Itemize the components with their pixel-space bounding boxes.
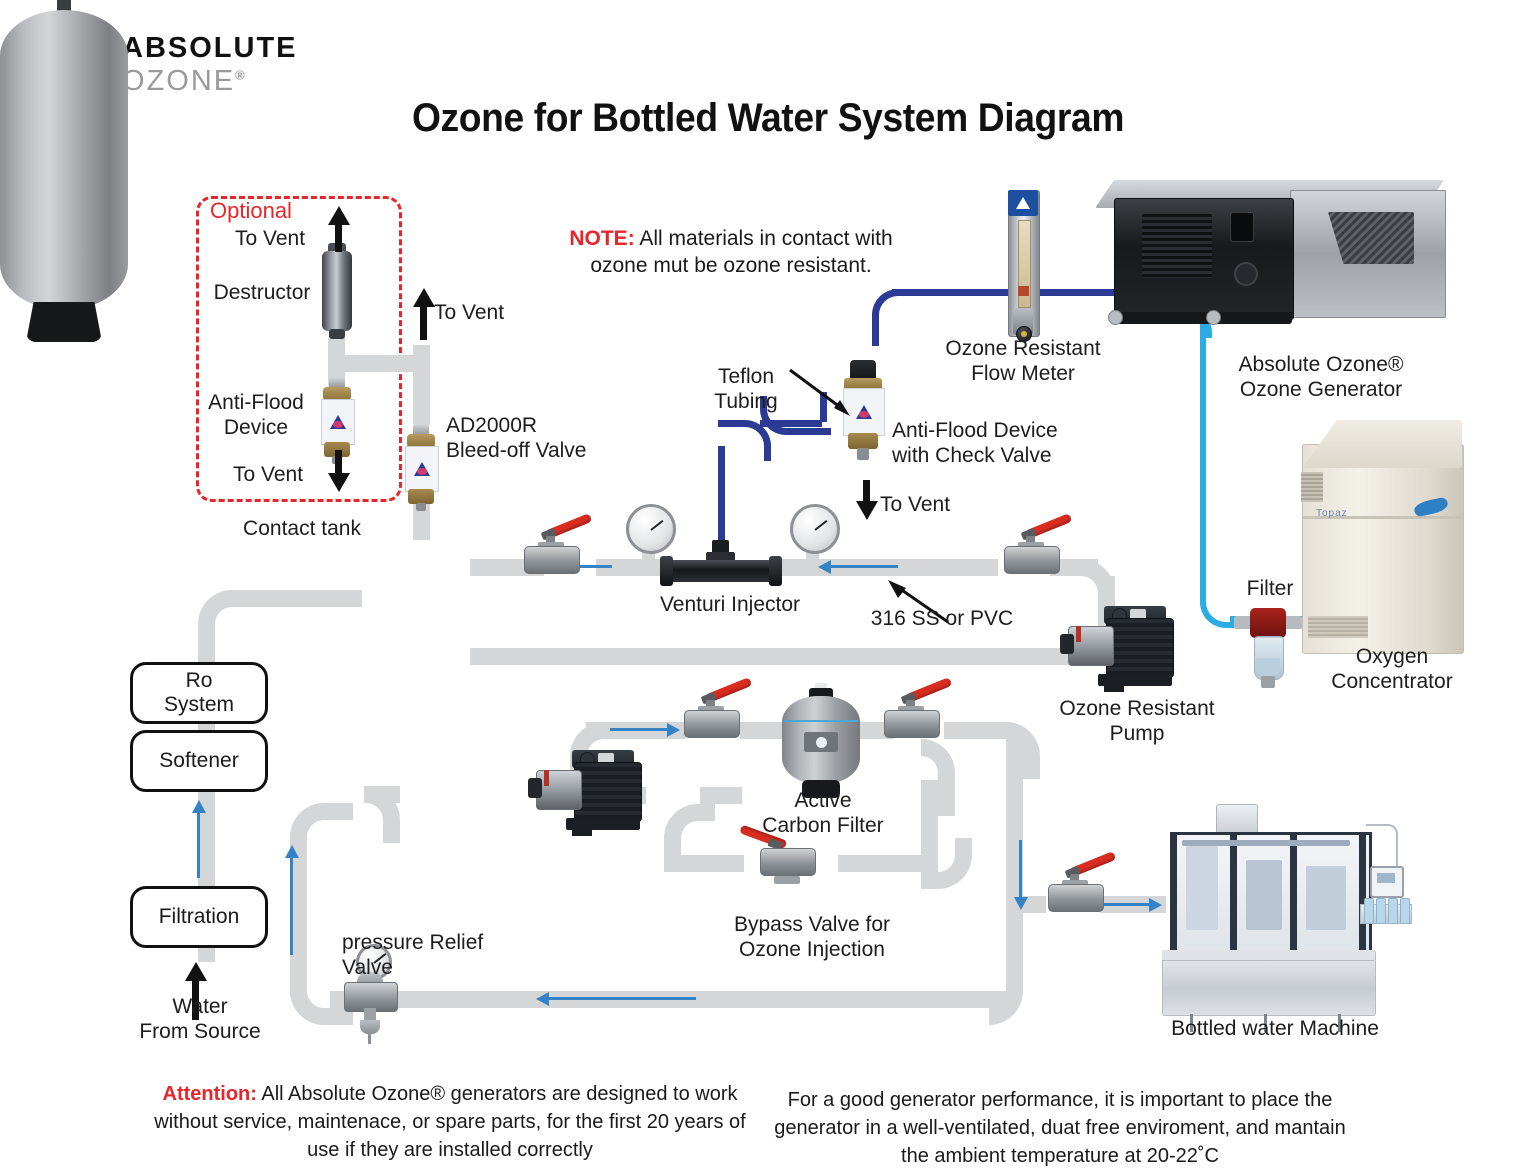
bleedoff-riser (413, 345, 430, 425)
label-oxygen-concentrator: Oxygen Concentrator (1308, 644, 1476, 694)
label-venturi-injector: Venturi Injector (640, 592, 820, 617)
contact-tank-base (26, 302, 102, 342)
label-pipe-material: 316 SS or PVC (858, 606, 1026, 631)
page-title: Ozone for Bottled Water System Diagram (54, 96, 1482, 141)
ad2000r-logo-icon (414, 462, 430, 476)
valve-body (1004, 546, 1060, 574)
flow-meter-logo-icon (1016, 197, 1030, 209)
valve-body (524, 546, 580, 574)
pipe-corner-left-upper (290, 803, 353, 866)
note-callout: NOTE: All materials in contact with ozon… (556, 225, 906, 279)
label-flow-meter: Ozone Resistant Flow Meter (930, 336, 1116, 386)
to-vent-arrow-bleedoff (417, 288, 430, 340)
bwm-control-panel[interactable] (1370, 866, 1404, 898)
flow-arrow-to-acf (610, 723, 680, 736)
note-prefix: NOTE: (569, 227, 634, 250)
pressure-gauge-left (626, 504, 676, 554)
pipe-bypass-left (664, 855, 744, 872)
afd-label (321, 399, 355, 445)
bwm-frame-column (1290, 832, 1297, 950)
bwm-bottle (1364, 898, 1374, 924)
label-bottled-water-machine: Bottled water Machine (1152, 1016, 1398, 1041)
afd-check-tip (857, 448, 869, 460)
footer-attention-prefix: Attention: (163, 1083, 257, 1105)
to-vent-arrow-antiflood (332, 450, 345, 492)
pump-foot-bracket (572, 828, 592, 836)
label-ozone-generator: Absolute Ozone® Ozone Generator (1210, 352, 1432, 402)
pipe-pump-suction (470, 648, 1090, 665)
generator-control-dial[interactable] (1234, 262, 1258, 286)
to-vent-arrow-destructor (332, 206, 345, 252)
flow-arrow-right-leg (1014, 840, 1027, 910)
ad2000r-tip (416, 503, 426, 511)
bwm-bottle (1400, 898, 1410, 924)
oxygen-line-vertical (1200, 320, 1206, 596)
ozone-line-checkvalve-down (872, 326, 879, 346)
pump-head-stripe (1076, 626, 1081, 642)
contact-tank-body (0, 10, 128, 310)
bwm-bottle (1388, 898, 1398, 924)
footer-attention: Attention: All Absolute Ozone® generator… (150, 1080, 750, 1164)
ro-system-label: Ro System (164, 669, 234, 717)
pipe-bypass-tl-down (664, 836, 681, 856)
brand-name-bold: ABSOLUTE (122, 32, 298, 64)
pump-suction-nose (528, 778, 542, 798)
pump-suction-nose (1060, 634, 1074, 654)
pump-head (536, 770, 582, 810)
registered-mark: ® (235, 67, 247, 82)
acf-logo-icon (804, 732, 838, 752)
label-contact-tank: Contact tank (224, 516, 380, 541)
label-to-vent-destructor: To Vent (208, 226, 332, 251)
valve-body (684, 710, 740, 738)
diagram-canvas: ABSOLUTE OZONE® Ozone for Bottled Water … (0, 0, 1536, 1164)
valve-body (884, 710, 940, 738)
label-destructor: Destructor (200, 280, 324, 305)
secondary-pump (536, 748, 654, 840)
contact-tank (0, 0, 128, 330)
sidebar-item-filtration[interactable]: Filtration (130, 886, 268, 948)
oxygen-concentrator-grille (1308, 616, 1368, 638)
note-text: All materials in contact with ozone mut … (590, 227, 892, 277)
generator-intake-grille (1142, 214, 1212, 278)
valve-nut (774, 876, 800, 884)
bottled-water-machine (1160, 804, 1410, 1036)
label-anti-flood-check: Anti-Flood Device with Check Valve (892, 418, 1092, 468)
valve-bottled-water-machine-inlet[interactable] (1040, 862, 1110, 914)
ad2000r-label (405, 446, 439, 492)
bwm-rinser (1186, 846, 1218, 930)
filter-water-level (1256, 658, 1280, 676)
pump-motor (1106, 618, 1174, 678)
ozone-line-meter-to-generator (1036, 289, 1118, 296)
ad2000r-foot (408, 489, 434, 504)
ozone-resistant-pump (1068, 604, 1186, 696)
ozone-generator (1114, 180, 1444, 332)
oxygen-concentrator-top (1302, 420, 1462, 468)
venturi-end-left (660, 556, 673, 586)
label-ozone-pump: Ozone Resistant Pump (1042, 696, 1232, 746)
valve-acf-inlet[interactable] (676, 688, 746, 740)
label-bypass-valve: Bypass Valve for Ozone Injection (714, 912, 910, 962)
filter-outlet-fitting (1284, 616, 1302, 629)
valve-acf-outlet[interactable] (876, 688, 946, 740)
bwm-frame-column (1230, 832, 1237, 950)
sidebar-item-softener[interactable]: Softener (130, 730, 268, 792)
flow-arrow-left-riser (285, 845, 298, 955)
bwm-bottle (1376, 898, 1386, 924)
flow-arrow-softener-riser (192, 800, 205, 878)
flow-arrow-bottom-return (536, 992, 696, 1005)
label-to-vent-check: To Vent (880, 492, 990, 517)
label-to-vent-bleedoff: To Vent (434, 300, 544, 325)
brand-wordmark: ABSOLUTE OZONE® (122, 32, 416, 98)
filter-drain (1261, 676, 1275, 688)
bwm-frame-column (1170, 832, 1177, 950)
sidebar-item-ro-system[interactable]: Ro System (130, 662, 268, 724)
oxygen-concentrator: Topaz (1302, 420, 1462, 652)
label-water-from-source: Water From Source (120, 994, 280, 1044)
venturi-end-right (769, 556, 782, 586)
flow-meter-header (1008, 190, 1038, 216)
venturi-injector (662, 556, 780, 586)
optional-label: Optional (210, 198, 292, 224)
ozone-line-to-meter (892, 289, 1008, 296)
label-to-vent-antiflood: To Vent (206, 462, 330, 487)
valve-body (1048, 884, 1104, 912)
pipe-ro-to-tank (232, 590, 362, 607)
generator-ozone-outlet-port (1108, 310, 1123, 325)
ad2000r-bleed-off-valve (404, 425, 438, 511)
label-anti-flood-device: Anti-Flood Device (196, 390, 316, 440)
pump-motor (574, 762, 642, 822)
pipe-pump-out-low (700, 787, 742, 804)
bwm-filler (1246, 860, 1282, 930)
bwm-upper-rail (1182, 840, 1350, 846)
ozone-resistant-flow-meter (1004, 190, 1042, 335)
oxygen-concentrator-side-vent (1301, 472, 1323, 502)
bwm-frame-column (1359, 832, 1366, 950)
generator-base (1114, 312, 1292, 324)
prv-drip (368, 1034, 371, 1044)
destructor-body (322, 251, 352, 331)
filtration-label: Filtration (159, 905, 240, 929)
label-ad2000r: AD2000R Bleed-off Valve (446, 413, 626, 463)
valve-tank-inlet[interactable] (516, 524, 586, 576)
bypass-valve-ozone-injection[interactable] (752, 834, 822, 886)
destructor-outlet (329, 329, 345, 339)
pipe-acf-to-down (944, 722, 1006, 739)
teflon-line-horizontal (760, 420, 822, 427)
pressure-gauge-right (790, 504, 840, 554)
softener-label: Softener (159, 749, 238, 773)
valve-body (760, 848, 816, 876)
afd-check-logo-icon (856, 405, 872, 419)
footer-performance-note: For a good generator performance, it is … (760, 1086, 1360, 1170)
pump-head-stripe (544, 770, 549, 786)
pump-head (1068, 626, 1114, 666)
pump-foot-bracket (1104, 684, 1124, 692)
flow-meter-float (1018, 286, 1029, 296)
pipe-corner-bypass-br (921, 838, 972, 889)
venturi-body (662, 560, 780, 582)
label-filter: Filter (1210, 576, 1330, 601)
bwm-base-lip (1162, 950, 1374, 961)
oxygen-inline-filter (1246, 600, 1290, 688)
pipe-bottom-return (394, 991, 1006, 1008)
flow-arrow-into-venturi (818, 560, 898, 573)
afd-logo-icon (330, 415, 346, 429)
afd-check-foot (848, 433, 878, 449)
filter-head (1250, 608, 1286, 638)
pipe-corner-right-leg-top (1006, 722, 1040, 779)
ozone-destructor (322, 243, 352, 339)
label-teflon-tubing: Teflon Tubing (676, 364, 816, 414)
valve-line-inlet[interactable] (996, 524, 1066, 576)
label-active-carbon-filter: Active Carbon Filter (750, 788, 896, 838)
prv-bowl (360, 1020, 380, 1034)
brand-name-light: OZONE (122, 65, 235, 97)
to-vent-arrow-check-valve (860, 480, 873, 520)
oxygen-concentrator-brandmark: Topaz (1316, 508, 1348, 519)
bwm-capper (1306, 866, 1346, 930)
label-pressure-relief-valve: pressure Relief Valve (342, 930, 522, 980)
generator-oxygen-inlet-port (1206, 310, 1221, 325)
acf-band (784, 720, 858, 722)
generator-power-inlet (1230, 212, 1254, 242)
